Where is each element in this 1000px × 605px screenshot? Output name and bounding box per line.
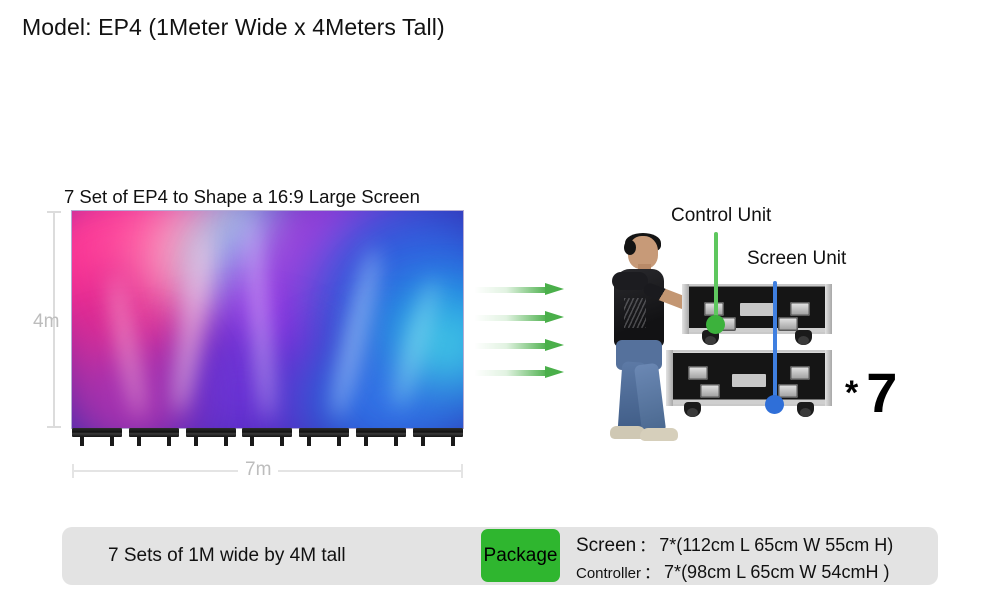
control-unit-callout-dot — [706, 315, 725, 334]
spec-row-screen: Screen ： 7*(112cm L 65cm W 55cm H) — [576, 532, 936, 557]
control-unit-callout-line — [714, 232, 718, 324]
multiplier-value: 7 — [866, 365, 897, 421]
quantity-multiplier: * 7 — [845, 365, 897, 421]
spec-key: Controller — [576, 565, 641, 582]
led-screen-preview — [72, 211, 463, 428]
screen-unit-label: Screen Unit — [747, 248, 846, 270]
height-dimension-label: 4m — [33, 311, 59, 333]
package-badge[interactable]: Package — [481, 529, 560, 582]
screen-unit-callout-dot — [765, 395, 784, 414]
spec-value: 7*(112cm L 65cm W 55cm H) — [659, 535, 893, 556]
screen-unit-flight-case — [666, 350, 832, 406]
screen-base-stands — [72, 428, 463, 446]
base-stand — [242, 428, 292, 446]
flow-arrows — [474, 283, 564, 379]
spec-row-controller: Controller ： 7*(98cm L 65cm W 54cmH ) — [576, 559, 936, 583]
screen-caption: 7 Set of EP4 to Shape a 16:9 Large Scree… — [64, 186, 420, 208]
screen-unit-callout-line — [773, 281, 777, 405]
page-title: Model: EP4 (1Meter Wide x 4Meters Tall) — [22, 13, 445, 41]
base-stand — [356, 428, 406, 446]
flow-arrow-icon — [474, 283, 564, 296]
multiplier-star: * — [845, 376, 858, 410]
technician-figure — [600, 236, 686, 441]
base-stand — [72, 428, 122, 446]
base-stand — [413, 428, 463, 446]
control-unit-flight-case — [682, 284, 832, 334]
width-dimension-label: 7m — [238, 459, 278, 481]
base-stand — [299, 428, 349, 446]
spec-key: Screen — [576, 535, 636, 557]
spec-separator: ： — [639, 532, 655, 556]
spec-value: 7*(98cm L 65cm W 54cmH ) — [664, 562, 889, 583]
flow-arrow-icon — [474, 339, 564, 352]
package-badge-label: Package — [484, 545, 558, 567]
flow-arrow-icon — [474, 366, 564, 379]
package-spec-list: Screen ： 7*(112cm L 65cm W 55cm H) Contr… — [576, 532, 936, 585]
base-stand — [129, 428, 179, 446]
spec-separator: ： — [644, 559, 660, 583]
summary-text: 7 Sets of 1M wide by 4M tall — [108, 545, 346, 567]
flow-arrow-icon — [474, 311, 564, 324]
base-stand — [186, 428, 236, 446]
control-unit-label: Control Unit — [671, 205, 771, 227]
